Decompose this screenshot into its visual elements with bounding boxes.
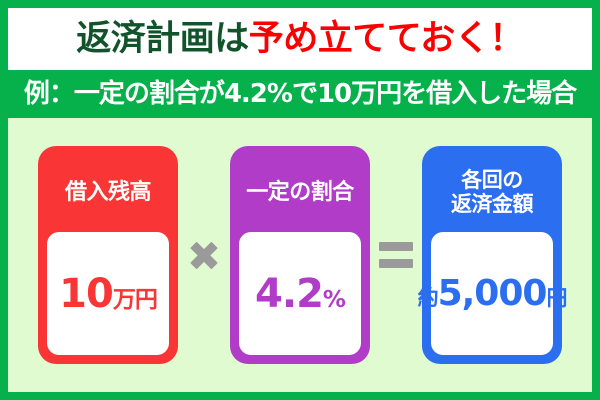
page-title: 返済計画は予め立てておく！ bbox=[76, 22, 523, 57]
subtitle-text: 例：一定の割合が4.2%で10万円を借入した場合 bbox=[24, 81, 576, 107]
formula-row: 借入残高 10万円 一定の割合 4.2% bbox=[8, 118, 592, 392]
operator-equals bbox=[370, 242, 422, 268]
multiply-icon bbox=[187, 238, 221, 272]
value-main: 10 bbox=[59, 274, 113, 314]
equals-bar-top bbox=[379, 242, 413, 251]
card-fixed-rate: 一定の割合 4.2% bbox=[230, 146, 370, 364]
operator-multiply bbox=[178, 238, 230, 272]
title-plain-text: 返済計画は bbox=[76, 19, 249, 59]
card-payment-amount-label: 各回の 返済金額 bbox=[451, 154, 533, 232]
equals-icon bbox=[379, 242, 413, 268]
card-payment-amount-value-box: 約5,000円 bbox=[431, 232, 553, 355]
card-loan-balance: 借入残高 10万円 bbox=[38, 146, 178, 364]
title-highlight-text: 予め立てておく！ bbox=[249, 19, 524, 59]
card-payment-amount: 各回の 返済金額 約5,000円 bbox=[422, 146, 562, 364]
value-main: 4.2 bbox=[255, 274, 323, 314]
value-main: 5,000 bbox=[438, 276, 547, 312]
card-loan-balance-label: 借入残高 bbox=[65, 154, 151, 232]
value-unit: 万円 bbox=[113, 289, 157, 312]
equals-bar-bottom bbox=[379, 259, 413, 268]
value-prefix: 約 bbox=[418, 288, 438, 309]
title-band: 返済計画は予め立てておく！ bbox=[8, 8, 592, 70]
infographic-root: 返済計画は予め立てておく！ 例：一定の割合が4.2%で10万円を借入した場合 借… bbox=[0, 0, 600, 400]
value-unit: 円 bbox=[546, 288, 566, 309]
card-loan-balance-value: 10万円 bbox=[59, 274, 157, 314]
card-fixed-rate-label: 一定の割合 bbox=[246, 154, 354, 232]
card-fixed-rate-value-box: 4.2% bbox=[239, 232, 361, 355]
value-unit: % bbox=[323, 289, 345, 312]
card-loan-balance-value-box: 10万円 bbox=[47, 232, 169, 355]
card-payment-amount-value: 約5,000円 bbox=[418, 276, 567, 312]
subtitle-band: 例：一定の割合が4.2%で10万円を借入した場合 bbox=[8, 70, 592, 118]
card-fixed-rate-value: 4.2% bbox=[255, 274, 345, 314]
formula-body: 借入残高 10万円 一定の割合 4.2% bbox=[8, 118, 592, 392]
